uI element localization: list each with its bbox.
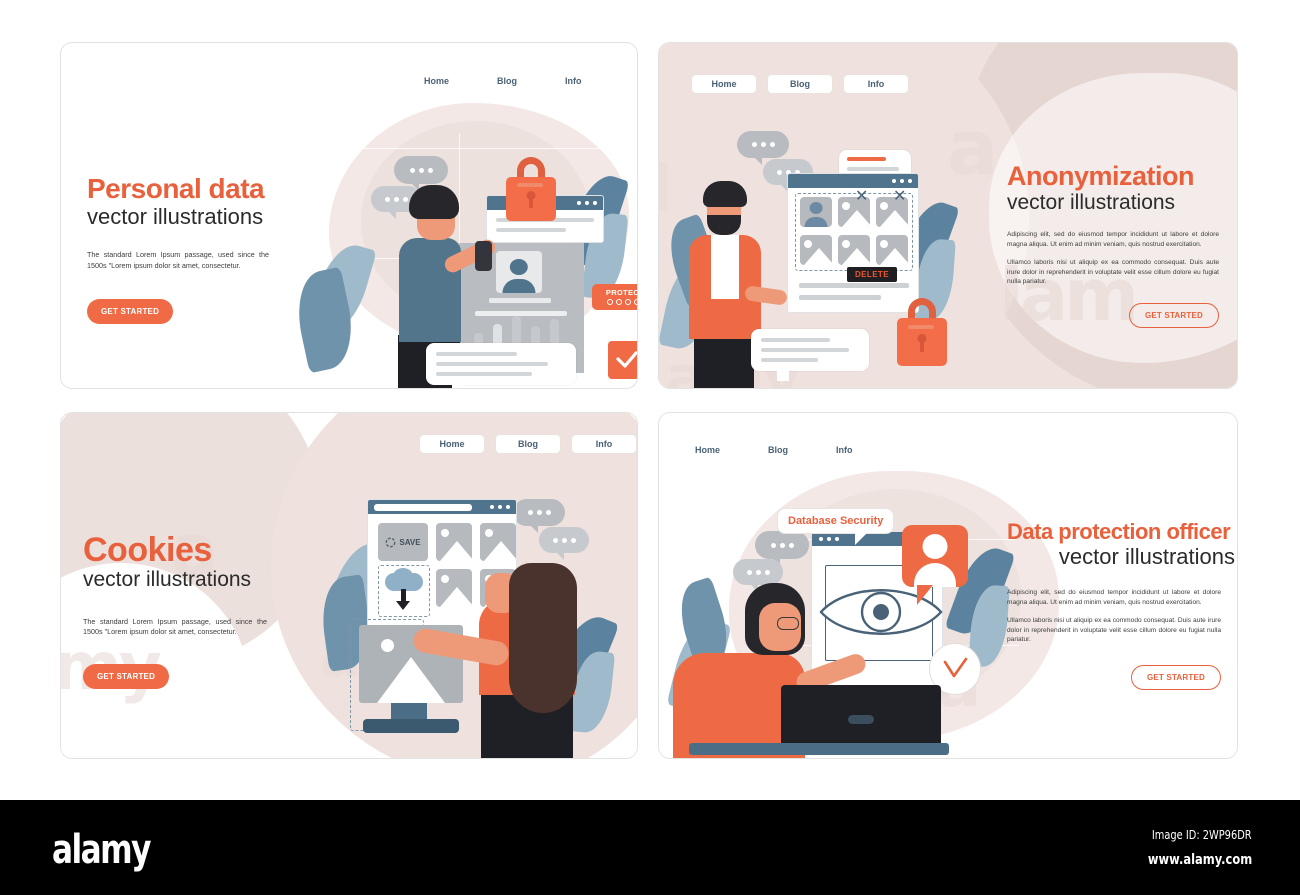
page-subtitle: vector illustrations	[1007, 192, 1232, 214]
protection-badge-label: PROTECTION	[606, 288, 638, 297]
page-title: Data protection officer	[1007, 521, 1235, 543]
chat-bubble-icon	[513, 499, 565, 526]
divider	[489, 298, 551, 303]
panel-copy: Data protection officer vector illustrat…	[1007, 521, 1235, 690]
nav-item-blog[interactable]: Blog	[496, 435, 560, 453]
protection-badge: PROTECTION	[592, 284, 638, 310]
page-title: Anonymization	[1007, 163, 1232, 190]
panel-nav: Home Blog Info	[420, 435, 638, 453]
nav-item-info[interactable]: Info	[572, 435, 636, 453]
chat-bubble-icon	[755, 531, 809, 559]
divider	[799, 295, 881, 300]
delete-badge[interactable]: DELETE	[847, 267, 897, 282]
alamy-url-label: www.alamy.com	[1148, 852, 1252, 868]
panel-data-protection-officer: ala Home Blog Info Data protection offic…	[658, 412, 1238, 759]
panel-nav: Home Blog Info	[692, 75, 920, 93]
glasses-icon	[777, 617, 799, 630]
nav-item-home[interactable]: Home	[692, 75, 756, 93]
page-title: Cookies	[83, 533, 323, 567]
watermark-ghost: l	[658, 153, 673, 227]
nav-item-blog[interactable]: Blog	[768, 75, 832, 93]
panel-nav: Home Blog Info	[695, 445, 901, 455]
desk-surface	[689, 743, 949, 755]
body-paragraph: Ullamco laboris nisi ut aliquip ex ea co…	[1007, 258, 1219, 287]
image-id-label: Image ID: 2WP96DR	[1152, 828, 1252, 842]
image-tile-icon	[436, 523, 472, 561]
image-tile-icon	[480, 523, 516, 561]
image-tile-icon	[876, 235, 908, 265]
body-paragraph: The standard Lorem Ipsum passage, used s…	[87, 250, 269, 271]
person-hair	[703, 181, 747, 207]
x-close-icon[interactable]: ✕	[893, 189, 906, 205]
watermark-ghost: a	[947, 103, 998, 192]
alamy-logo: alamy	[52, 827, 150, 873]
panel-copy: Personal data vector illustrations The s…	[87, 175, 337, 324]
nav-item-info[interactable]: Info	[836, 445, 853, 455]
person-hair	[509, 563, 577, 713]
page-subtitle: vector illustrations	[87, 205, 337, 228]
save-label: SAVE	[399, 538, 420, 547]
laptop-icon	[781, 685, 941, 749]
get-started-button[interactable]: GET STARTED	[83, 664, 169, 689]
chat-bubble-icon	[733, 559, 783, 585]
screenshot-root: Home Blog Info Personal data vector illu…	[0, 0, 1300, 895]
person-shirt	[711, 235, 739, 299]
download-arrow-icon	[396, 601, 410, 610]
image-tile-icon	[436, 569, 472, 607]
person-hair	[409, 185, 459, 219]
divider	[799, 283, 909, 288]
page-title: Personal data	[87, 175, 337, 203]
divider	[475, 311, 567, 316]
nav-item-home[interactable]: Home	[420, 435, 484, 453]
user-badge-icon	[902, 525, 968, 587]
speech-card	[426, 343, 576, 385]
padlock-icon	[895, 298, 949, 368]
nav-item-info[interactable]: Info	[565, 76, 582, 86]
chat-bubble-icon	[737, 131, 789, 158]
alamy-watermark-bar	[0, 800, 1300, 895]
nav-item-blog[interactable]: Blog	[768, 445, 788, 455]
image-tile-icon	[838, 235, 870, 265]
nav-item-blog[interactable]: Blog	[497, 76, 517, 86]
page-subtitle: vector illustrations	[83, 569, 323, 591]
get-started-button[interactable]: GET STARTED	[87, 299, 173, 324]
database-security-tooltip: Database Security	[777, 508, 894, 534]
panel-anonymization: a lam amy l Home Blog Info Anonymization…	[658, 42, 1238, 389]
get-started-button[interactable]: GET STARTED	[1131, 665, 1221, 690]
grid-line	[361, 148, 611, 149]
body-paragraph: Ullamco laboris nisi ut aliquip ex ea co…	[1007, 616, 1221, 645]
chat-bubble-icon	[394, 156, 448, 184]
nav-item-info[interactable]: Info	[844, 75, 908, 93]
padlock-icon	[504, 157, 558, 221]
panel-copy: Anonymization vector illustrations Adipi…	[1007, 163, 1232, 328]
smartphone-icon	[475, 241, 492, 271]
panel-personal-data: Home Blog Info Personal data vector illu…	[60, 42, 638, 389]
cloud-download-icon	[393, 568, 413, 584]
body-paragraph: The standard Lorem Ipsum passage, used s…	[83, 617, 267, 638]
chat-bubble-icon	[539, 527, 589, 553]
get-started-button[interactable]: GET STARTED	[1129, 303, 1219, 328]
speech-card	[751, 329, 869, 371]
monitor-base	[363, 719, 459, 733]
panel-nav: Home Blog Info	[424, 76, 630, 86]
save-button[interactable]: SAVE	[378, 523, 428, 561]
image-tile-icon	[800, 235, 832, 265]
panel-cookies: a my a Home Blog Info Cookies vector ill…	[60, 412, 638, 759]
protection-pips	[607, 299, 639, 305]
body-paragraph: Adipiscing elit, sed do eiusmod tempor i…	[1007, 588, 1221, 607]
page-subtitle: vector illustrations	[1007, 545, 1235, 568]
nav-item-home[interactable]: Home	[424, 76, 449, 86]
panel-copy: Cookies vector illustrations The standar…	[83, 533, 323, 689]
check-icon	[608, 341, 638, 379]
body-paragraph: Adipiscing elit, sed do eiusmod tempor i…	[1007, 230, 1219, 249]
user-avatar-icon	[496, 251, 542, 293]
avatar-icon	[800, 197, 832, 227]
nav-item-home[interactable]: Home	[695, 445, 720, 455]
badge-tail	[917, 585, 933, 605]
person-shirt	[399, 238, 461, 342]
x-close-icon[interactable]: ✕	[855, 189, 868, 205]
